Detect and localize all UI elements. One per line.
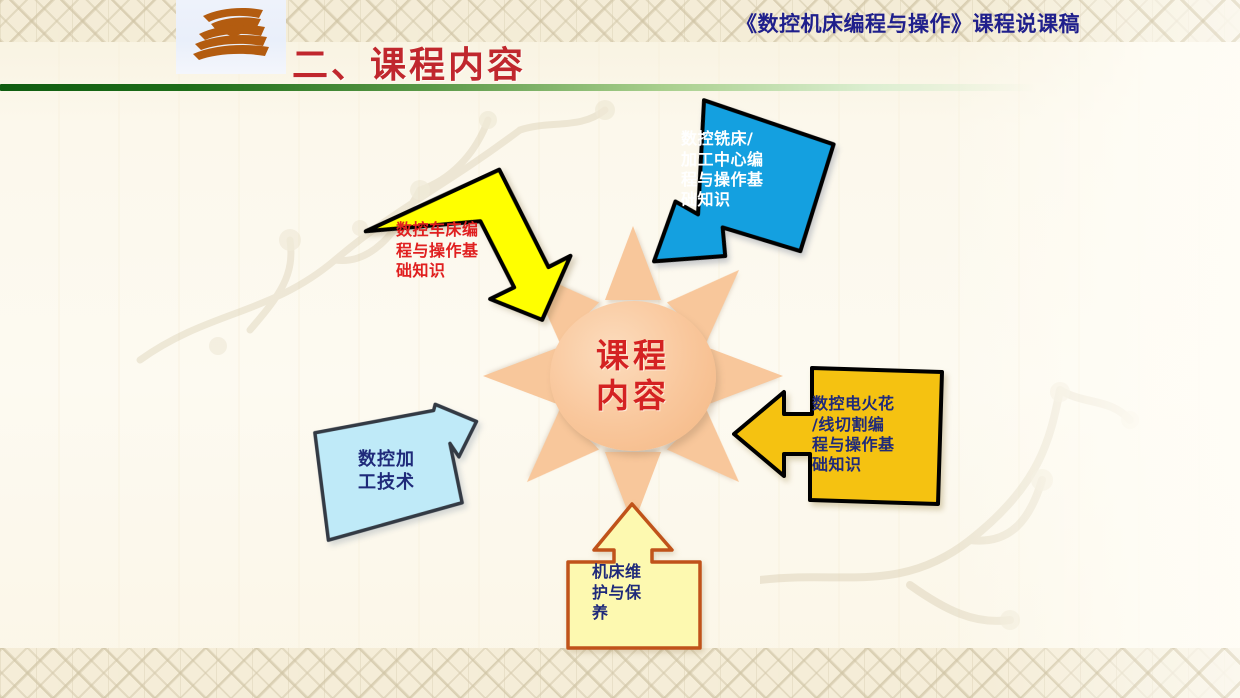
- callout-mill-label: 数控铣床/ 加工中心编 程与操作基 础知识: [681, 129, 764, 211]
- callout-cnc-mill[interactable]: 数控铣床/ 加工中心编 程与操作基 础知识: [648, 94, 844, 276]
- course-caption: 《数控机床编程与操作》课程说课稿: [736, 8, 1080, 38]
- center-label-line1: 课程: [596, 336, 670, 376]
- callout-machine-maintenance[interactable]: 机床维 护与保 养: [562, 498, 704, 654]
- callout-edm-wirecut[interactable]: 数控电火花 /线切割编 程与操作基 础知识: [730, 358, 946, 510]
- center-label-line2: 内容: [596, 376, 670, 416]
- header-divider-rule: [0, 84, 1035, 91]
- ornament-fade-bottom: [990, 648, 1240, 698]
- callout-edm-label: 数控电火花 /线切割编 程与操作基 础知识: [812, 394, 895, 476]
- slide-header: 二、课程内容 《数控机床编程与操作》课程说课稿: [0, 0, 1240, 92]
- callout-cnc-technology[interactable]: 数控加 工技术: [310, 402, 518, 546]
- callout-lathe-label: 数控车床编 程与操作基 础知识: [396, 220, 479, 281]
- stacked-book-hand-logo-icon: [185, 6, 277, 68]
- ornament-band-bottom: [0, 648, 1240, 698]
- presentation-slide: 二、课程内容 《数控机床编程与操作》课程说课稿 课程 内容 数控车床编 程与操作…: [0, 0, 1240, 698]
- institution-logo: [176, 0, 286, 74]
- background-right-fade: [940, 0, 1240, 698]
- callout-cnc-lathe[interactable]: 数控车床编 程与操作基 础知识: [368, 172, 576, 340]
- callout-tech-label: 数控加 工技术: [358, 448, 415, 494]
- callout-maint-label: 机床维 护与保 养: [592, 562, 642, 623]
- page-title: 二、课程内容: [292, 36, 526, 88]
